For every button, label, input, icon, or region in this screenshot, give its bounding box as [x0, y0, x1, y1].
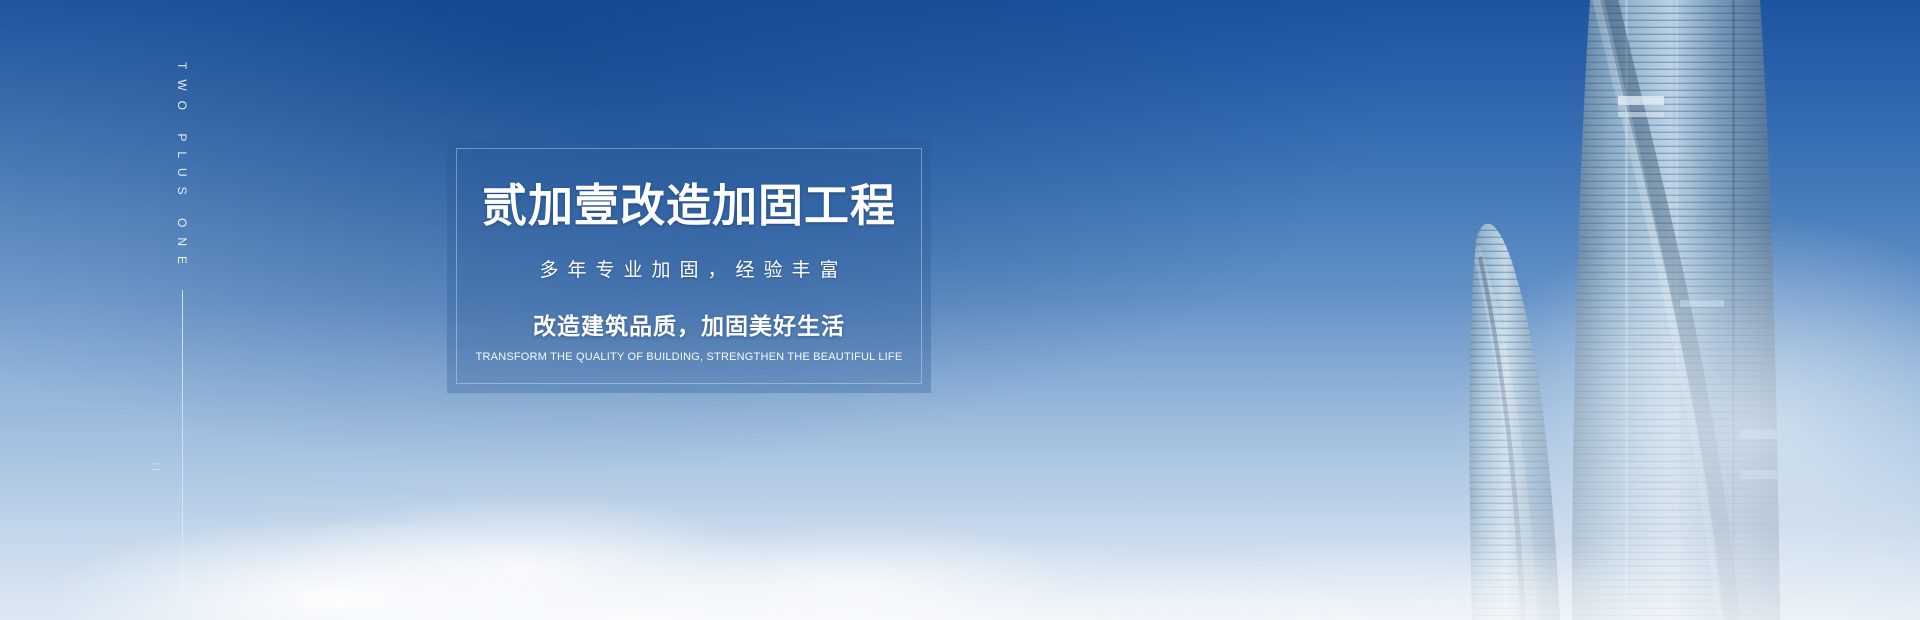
hero-english-caption: TRANSFORM THE QUALITY OF BUILDING, STREN…	[476, 351, 903, 363]
vertical-brand: TWO PLUS ONE 二	[176, 62, 188, 620]
vertical-divider-line	[182, 290, 183, 620]
hero-banner: TWO PLUS ONE 二 贰加壹改造加固工程 多年专业加固，经验丰富 改造建…	[0, 0, 1920, 620]
hero-headline: 贰加壹改造加固工程	[482, 181, 896, 231]
vertical-brand-mark: 二	[150, 462, 163, 473]
skyscraper-illustration	[1120, 0, 1920, 620]
sky-vignette	[0, 0, 1920, 620]
hero-content-inner: 贰加壹改造加固工程 多年专业加固，经验丰富 改造建筑品质，加固美好生活 TRAN…	[447, 139, 931, 393]
hero-slogan: 改造建筑品质，加固美好生活	[533, 307, 845, 341]
haze-layer	[1360, 150, 1920, 620]
hero-subtitle: 多年专业加固，经验丰富	[530, 255, 847, 282]
vertical-brand-text: TWO PLUS ONE	[176, 62, 188, 274]
hero-content-card: 贰加壹改造加固工程 多年专业加固，经验丰富 改造建筑品质，加固美好生活 TRAN…	[447, 139, 931, 393]
cloud-layer	[0, 300, 1920, 620]
